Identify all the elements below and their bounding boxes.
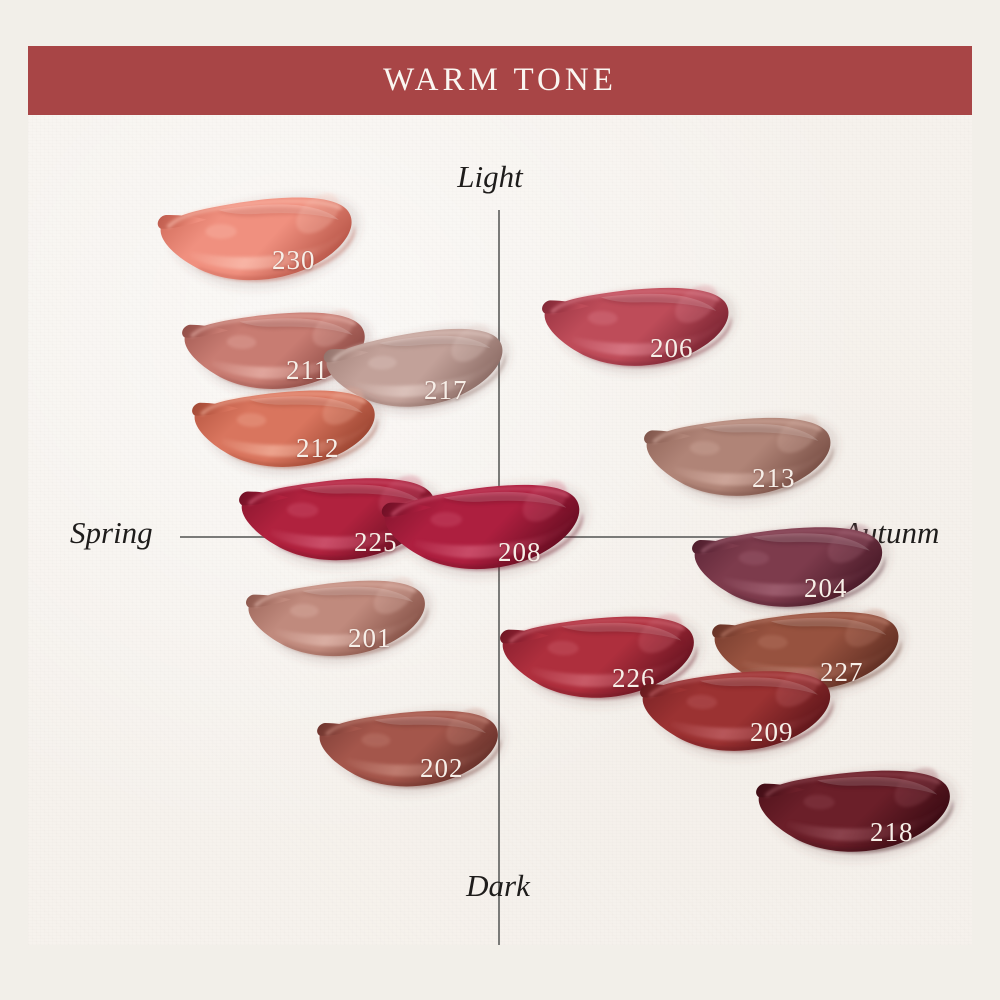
lipstick-swatch (534, 231, 752, 406)
page-title: WARM TONE (383, 62, 617, 99)
axis-label-spring: Spring (70, 515, 153, 551)
header-banner: WARM TONE (28, 46, 972, 115)
swatch-shape-206 (534, 231, 752, 406)
axis-label-dark: Dark (466, 868, 530, 904)
lipstick-swatch (309, 656, 521, 826)
swatch-shape-202 (309, 656, 521, 826)
shade-chart-canvas: Light Dark Spring Autunm (28, 115, 972, 945)
page-root: WARM TONE Light Dark Spring Autunm (0, 0, 1000, 1000)
axis-label-light: Light (457, 159, 522, 195)
